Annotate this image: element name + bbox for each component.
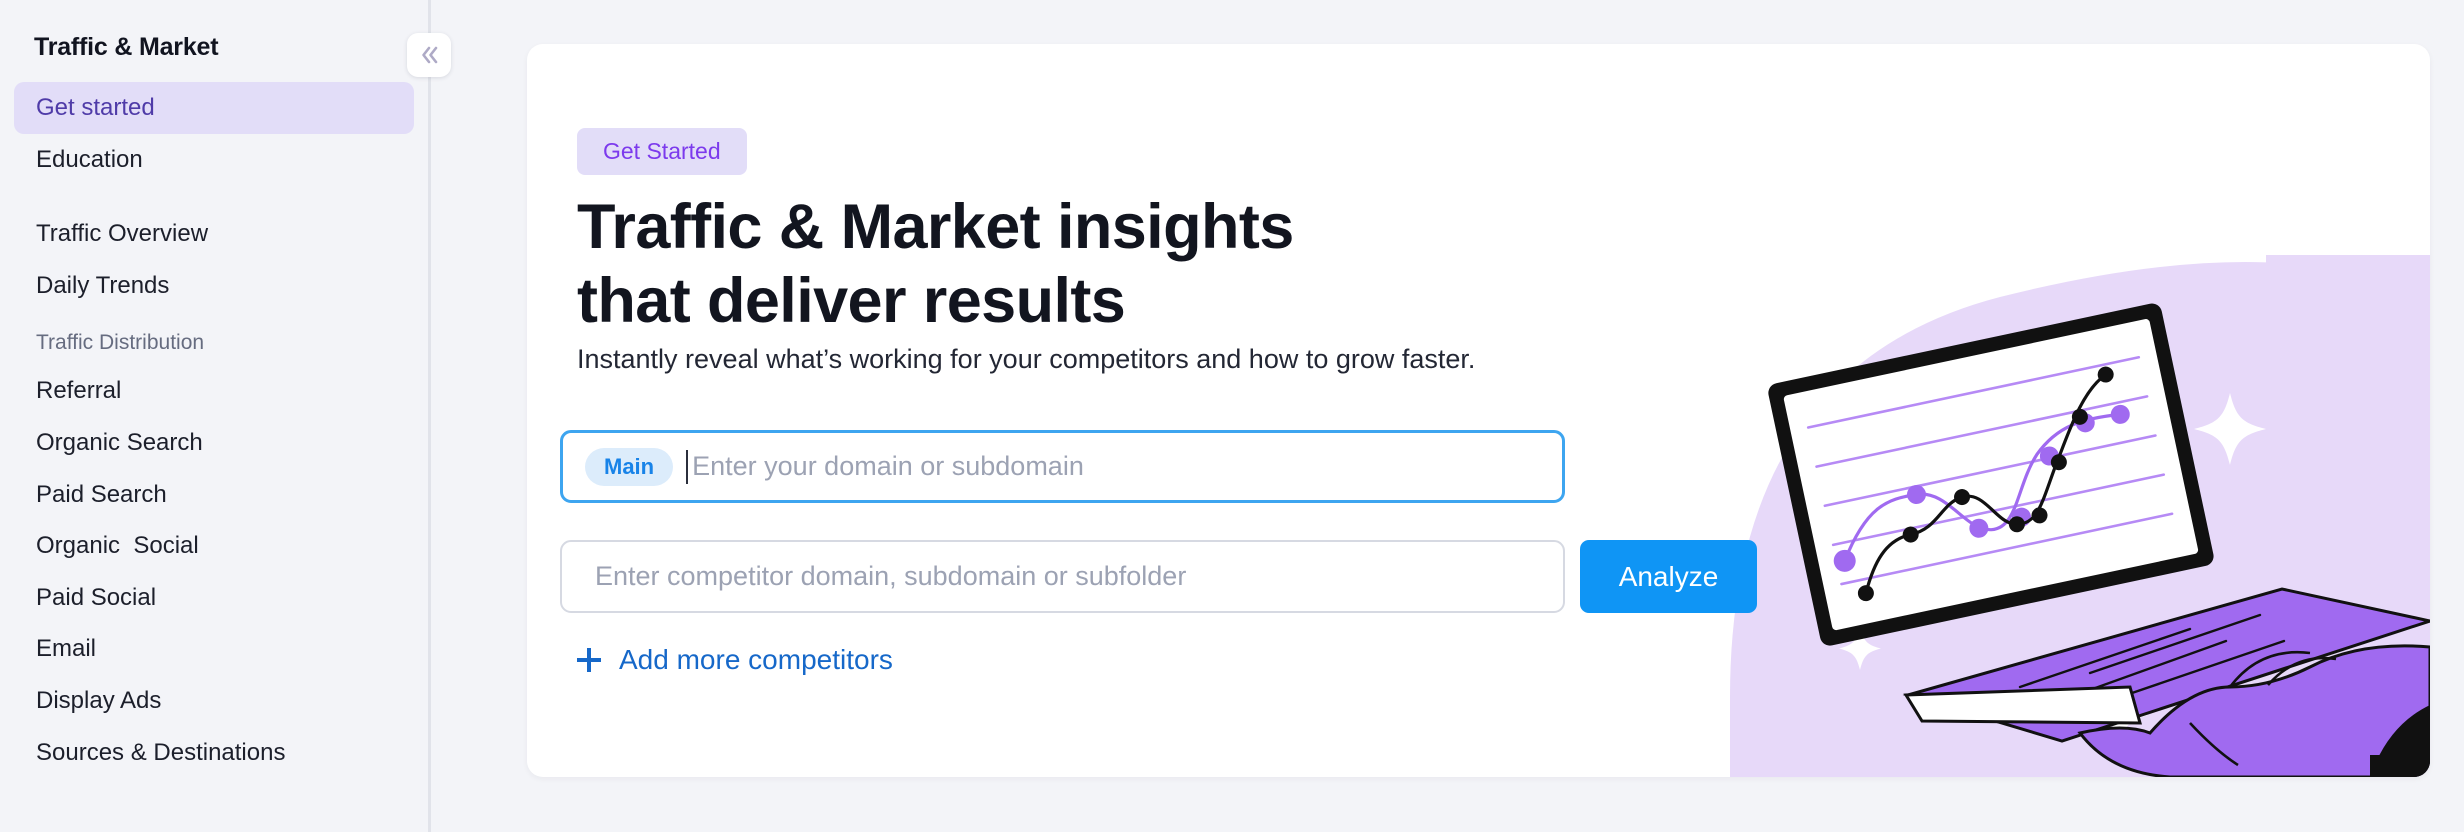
- sidebar-item-email[interactable]: Email: [14, 623, 414, 675]
- sidebar-item-organic-search[interactable]: Organic Search: [14, 417, 414, 469]
- sidebar-spacer: [0, 311, 428, 319]
- add-more-competitors-label: Add more competitors: [619, 644, 893, 676]
- main-domain-field[interactable]: Main Enter your domain or subdomain: [560, 430, 1565, 503]
- sidebar-divider: [428, 0, 431, 832]
- sidebar-item-display-ads[interactable]: Display Ads: [14, 675, 414, 727]
- sidebar-nav-list: Get started Education Traffic Overview D…: [0, 82, 428, 778]
- plus-icon: [577, 648, 601, 672]
- add-more-competitors-link[interactable]: Add more competitors: [577, 644, 893, 676]
- sidebar-item-get-started[interactable]: Get started: [14, 82, 414, 134]
- sidebar-item-referral[interactable]: Referral: [14, 365, 414, 417]
- sidebar-item-education[interactable]: Education: [14, 134, 414, 186]
- sidebar: Traffic & Market Get started Education T…: [0, 0, 428, 832]
- sidebar-item-paid-search[interactable]: Paid Search: [14, 469, 414, 521]
- sidebar-item-traffic-overview[interactable]: Traffic Overview: [14, 208, 414, 260]
- competitor-domain-field[interactable]: Enter competitor domain, subdomain or su…: [560, 540, 1565, 613]
- page-title: Traffic & Market insights that deliver r…: [577, 190, 1294, 339]
- page-subtitle: Instantly reveal what’s working for your…: [577, 343, 1475, 377]
- sidebar-section-traffic-distribution: Traffic Distribution: [14, 319, 414, 365]
- double-chevron-left-icon: [416, 42, 442, 68]
- text-cursor: [686, 450, 688, 484]
- hand-holding-laptop-with-line-chart-illustration: [1670, 217, 2430, 777]
- sidebar-item-daily-trends[interactable]: Daily Trends: [14, 260, 414, 312]
- sidebar-collapse-button[interactable]: [407, 33, 451, 77]
- sidebar-title: Traffic & Market: [34, 33, 218, 62]
- competitor-domain-placeholder: Enter competitor domain, subdomain or su…: [595, 561, 1186, 592]
- get-started-badge: Get Started: [577, 128, 747, 175]
- sidebar-item-sources-destinations[interactable]: Sources & Destinations: [14, 727, 414, 779]
- sidebar-spacer: [0, 185, 428, 208]
- main-badge: Main: [585, 448, 673, 486]
- sidebar-item-paid-social[interactable]: Paid Social: [14, 572, 414, 624]
- main-domain-placeholder: Enter your domain or subdomain: [692, 451, 1084, 482]
- analyze-button[interactable]: Analyze: [1580, 540, 1757, 613]
- sidebar-item-organic-social[interactable]: Organic Social: [14, 520, 414, 572]
- app-root: Traffic & Market Get started Education T…: [0, 0, 2464, 832]
- get-started-card: Get Started Traffic & Market insights th…: [527, 44, 2430, 777]
